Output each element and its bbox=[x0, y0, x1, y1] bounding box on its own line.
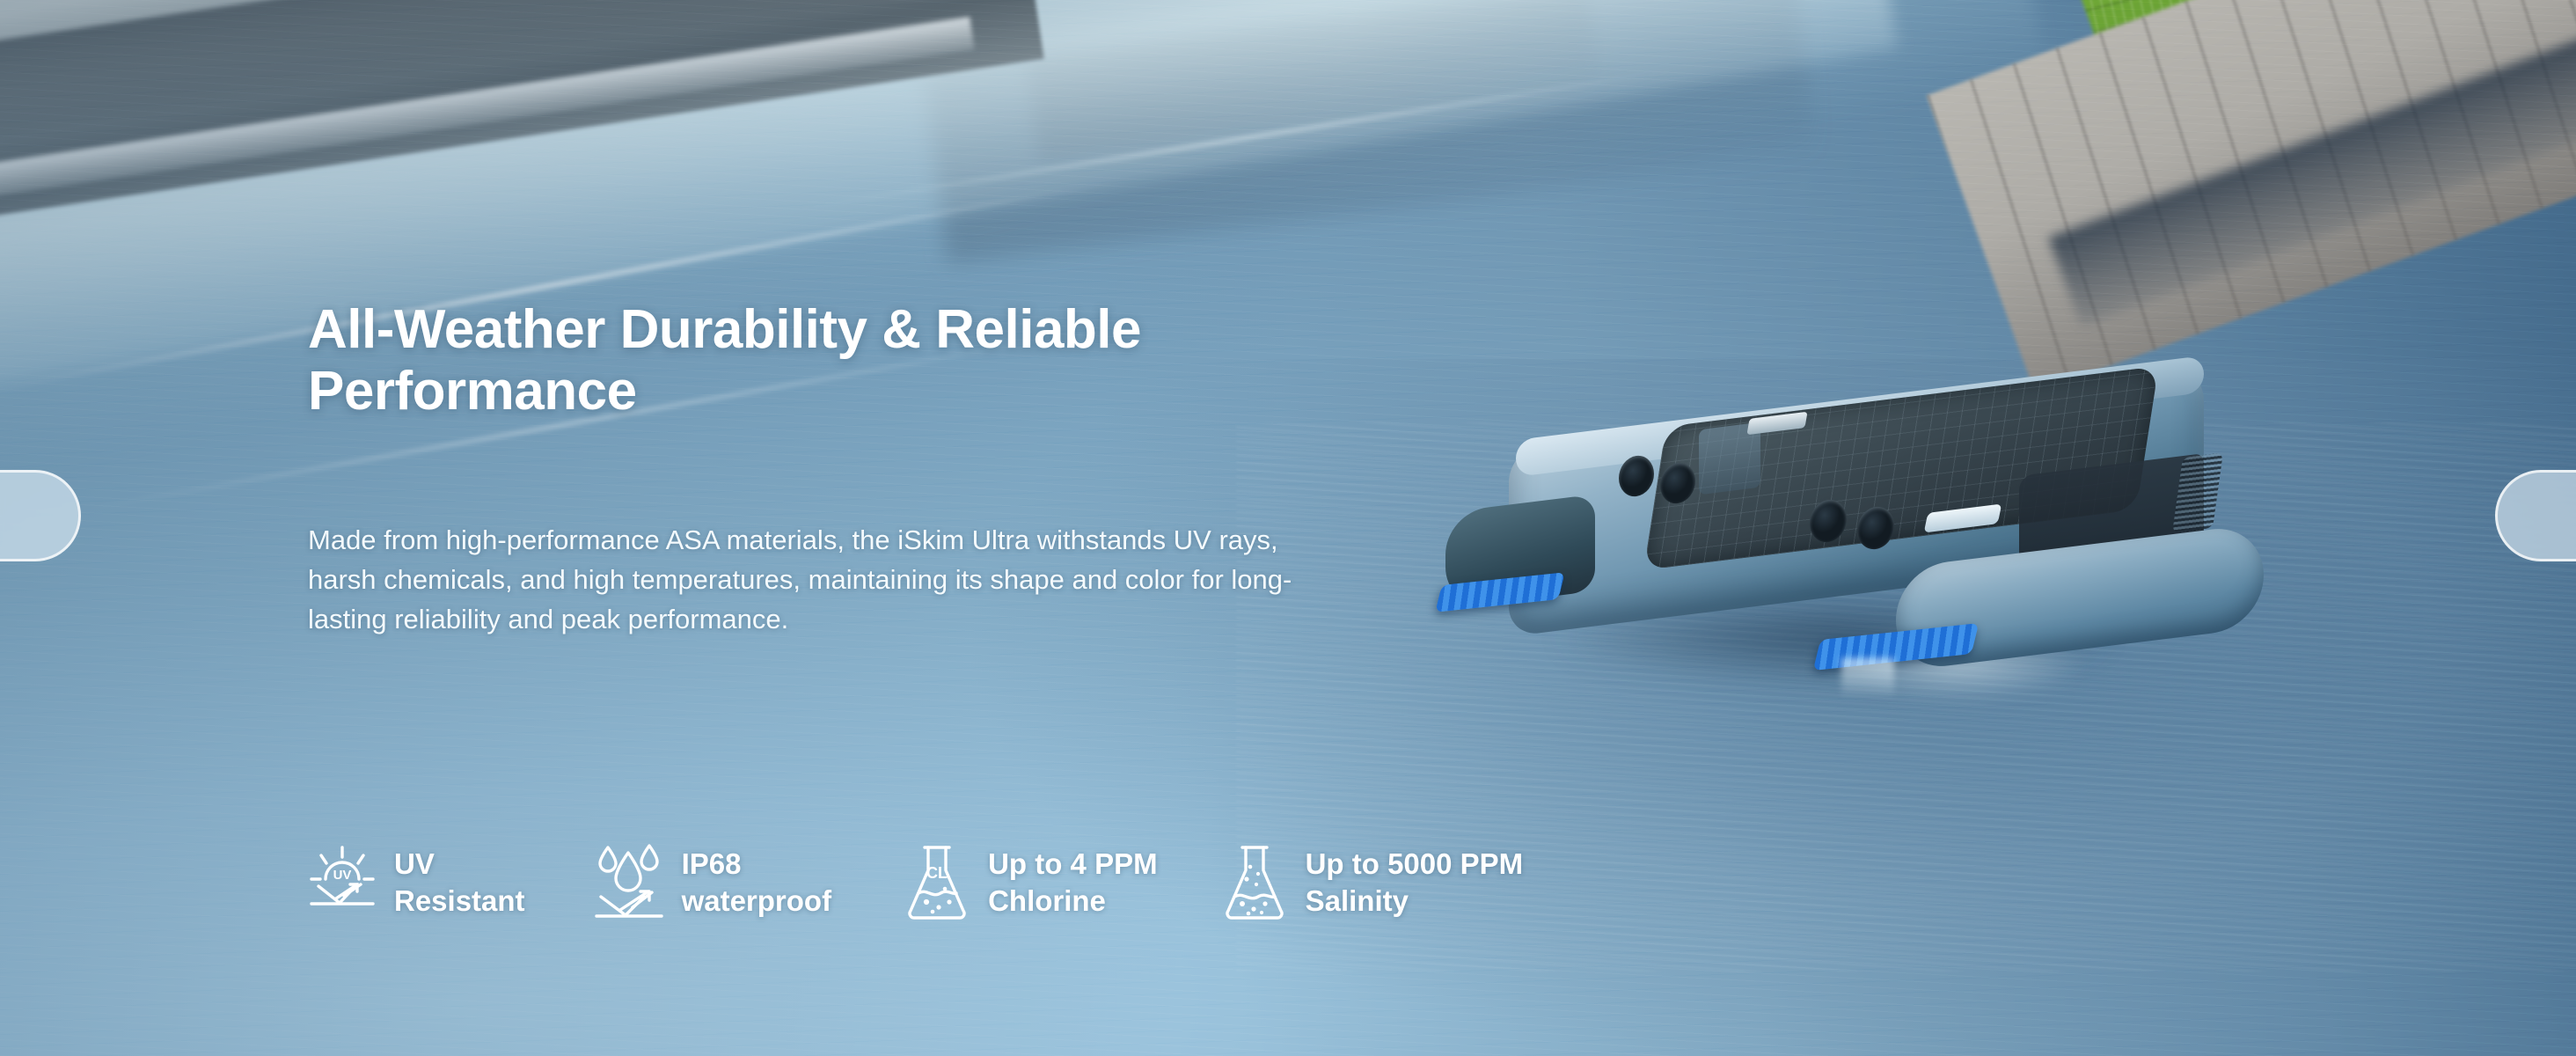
feature-item-salinity: Up to 5000 PPM Salinity bbox=[1221, 840, 1524, 925]
chlorine-icon-label: CL bbox=[926, 864, 948, 882]
feature-label-ip68-waterproof: IP68 waterproof bbox=[682, 846, 832, 919]
feature-list: UV UV Resistant bbox=[308, 840, 1523, 925]
uv-icon-label: UV bbox=[333, 868, 352, 883]
feature-label-chlorine: Up to 4 PPM Chlorine bbox=[988, 846, 1158, 919]
page-title: All-Weather Durability & Reliable Perfor… bbox=[308, 299, 1452, 422]
feature-label-salinity: Up to 5000 PPM Salinity bbox=[1306, 846, 1524, 919]
uv-resistant-icon: UV bbox=[308, 840, 377, 925]
feature-item-ip68-waterproof: IP68 waterproof bbox=[594, 840, 832, 925]
hero-description: Made from high-performance ASA materials… bbox=[308, 521, 1293, 640]
feature-item-chlorine: CL Up to 4 PPM Chlorine bbox=[904, 840, 1158, 925]
salinity-flask-icon bbox=[1221, 840, 1288, 925]
hero-banner: All-Weather Durability & Reliable Perfor… bbox=[0, 0, 2576, 1056]
feature-item-uv-resistant: UV UV Resistant bbox=[308, 840, 525, 925]
water-droplets-icon bbox=[594, 840, 664, 925]
hero-content: All-Weather Durability & Reliable Perfor… bbox=[308, 0, 2155, 1056]
chlorine-flask-icon: CL bbox=[904, 840, 970, 925]
feature-label-uv-resistant: UV Resistant bbox=[394, 846, 525, 919]
